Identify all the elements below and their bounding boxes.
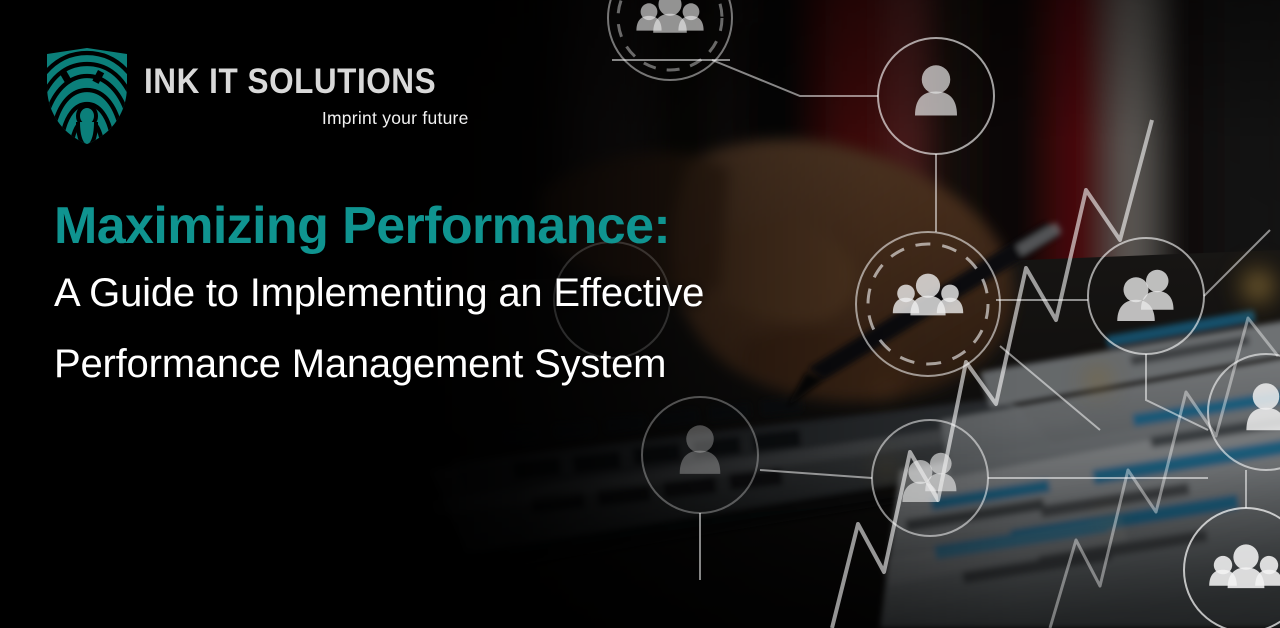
blog-hero-banner: INK IT SOLUTIONS Imprint your future Max… [0, 0, 1280, 628]
hero-text-block: Maximizing Performance: A Guide to Imple… [54, 200, 954, 384]
hero-subheadline-line-1: A Guide to Implementing an Effective [54, 273, 954, 313]
hero-subheadline-line-2: Performance Management System [54, 344, 954, 384]
company-name: INK IT SOLUTIONS [144, 64, 436, 99]
fingerprint-shield-logo-icon [44, 46, 130, 146]
hero-headline: Maximizing Performance: [54, 200, 954, 252]
company-tagline: Imprint your future [322, 108, 469, 129]
brand-logo[interactable]: INK IT SOLUTIONS Imprint your future [44, 46, 469, 146]
